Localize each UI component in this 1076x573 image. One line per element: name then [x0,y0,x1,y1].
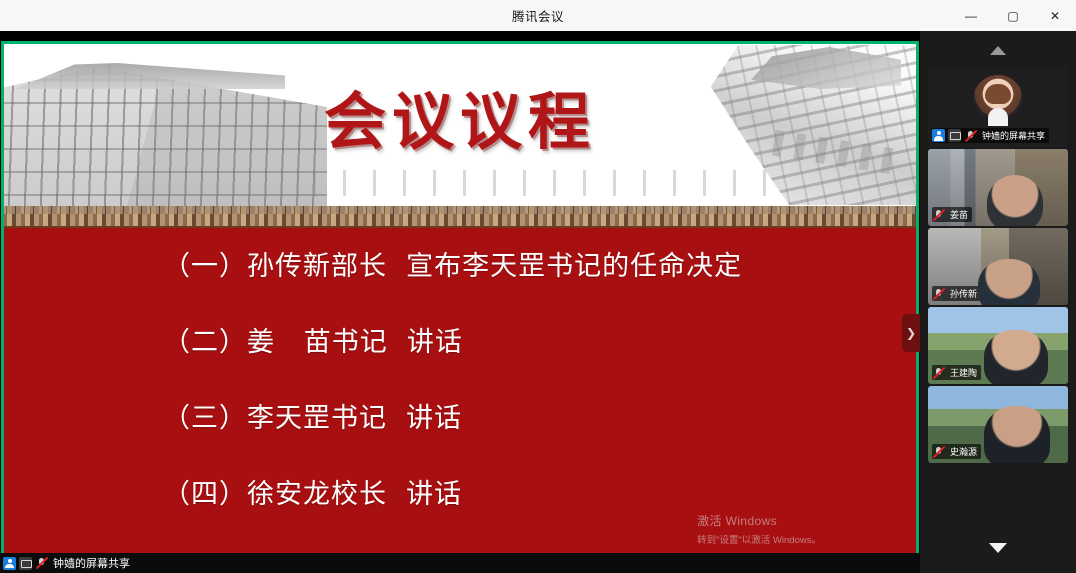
participant-name: 史瀚源 [948,445,977,458]
agenda-item-3: （三）李天罡书记 讲话 [163,403,917,434]
shared-screen-stage: 会议议程 （一）孙传新部长 宣布李天罡书记的任命决定 （二）姜 苗书记 讲话 （… [0,31,920,573]
participant-rail: 钟嫱的屏幕共享 姜苗 孙传新 王建陶 [920,31,1076,573]
agenda-list: （一）孙传新部长 宣布李天罡书记的任命决定 （二）姜 苗书记 讲话 （三）李天罡… [3,233,917,558]
mic-muted-icon [35,557,48,570]
chevron-up-icon [990,46,1006,55]
mic-muted-icon [932,208,945,221]
mic-muted-icon [932,366,945,379]
rail-scroll-up-button[interactable] [920,39,1076,61]
agenda-item-2: （二）姜 苗书记 讲话 [163,327,917,358]
participant-tile-video-3[interactable]: 王建陶 [928,307,1068,384]
agenda-item-4: （四）徐安龙校长 讲话 [163,479,917,510]
participant-tile-video-2[interactable]: 孙传新 [928,228,1068,305]
tencent-meeting-window: 腾讯会议 — ▢ ✕ 会议议程 （一）孙传新部长 宣布李天罡书记的任命决定 （二… [0,0,1076,573]
title-bar: 腾讯会议 — ▢ ✕ [0,0,1076,31]
collapse-panel-button[interactable]: ❯ [902,314,920,352]
participant-tiles: 钟嫱的屏幕共享 姜苗 孙传新 王建陶 [928,67,1068,465]
screen-share-icon [948,129,961,142]
screen-share-status-bar: 钟嫱的屏幕共享 [0,553,920,573]
participant-name: 钟嫱的屏幕共享 [980,129,1045,142]
mic-muted-icon [932,287,945,300]
slide-header-banner: 会议议程 [3,43,917,206]
maximize-button[interactable]: ▢ [992,0,1034,31]
minimize-button[interactable]: — [950,0,992,31]
chevron-down-icon [989,543,1007,553]
participant-name: 王建陶 [948,366,977,379]
tree-line-decoration [303,170,773,196]
rail-scroll-down-button[interactable] [920,537,1076,559]
mic-muted-icon [964,129,977,142]
close-button[interactable]: ✕ [1034,0,1076,31]
participant-tile-screen-share[interactable]: 钟嫱的屏幕共享 [928,67,1068,147]
window-title: 腾讯会议 [512,6,564,25]
agenda-item-1: （一）孙传新部长 宣布李天罡书记的任命决定 [163,251,917,282]
share-status-label: 钟嫱的屏幕共享 [53,555,130,571]
participant-tile-video-1[interactable]: 姜苗 [928,149,1068,226]
screen-share-icon [19,557,32,570]
chevron-right-icon: ❯ [906,326,916,340]
host-icon [932,129,945,142]
host-icon [3,557,16,570]
roof-tile-divider [3,206,917,228]
avatar [973,75,1023,125]
participant-label: 王建陶 [932,365,981,380]
window-controls: — ▢ ✕ [950,0,1076,31]
presentation-slide: 会议议程 （一）孙传新部长 宣布李天罡书记的任命决定 （二）姜 苗书记 讲话 （… [3,43,917,558]
mic-muted-icon [932,445,945,458]
participant-label: 孙传新 [932,286,981,301]
participant-label: 史瀚源 [932,444,981,459]
participant-label: 姜苗 [932,207,972,222]
participant-name: 孙传新 [948,287,977,300]
participant-label: 钟嫱的屏幕共享 [932,128,1049,143]
participant-tile-video-4[interactable]: 史瀚源 [928,386,1068,463]
participant-name: 姜苗 [948,208,968,221]
slide-title: 会议议程 [3,71,917,161]
